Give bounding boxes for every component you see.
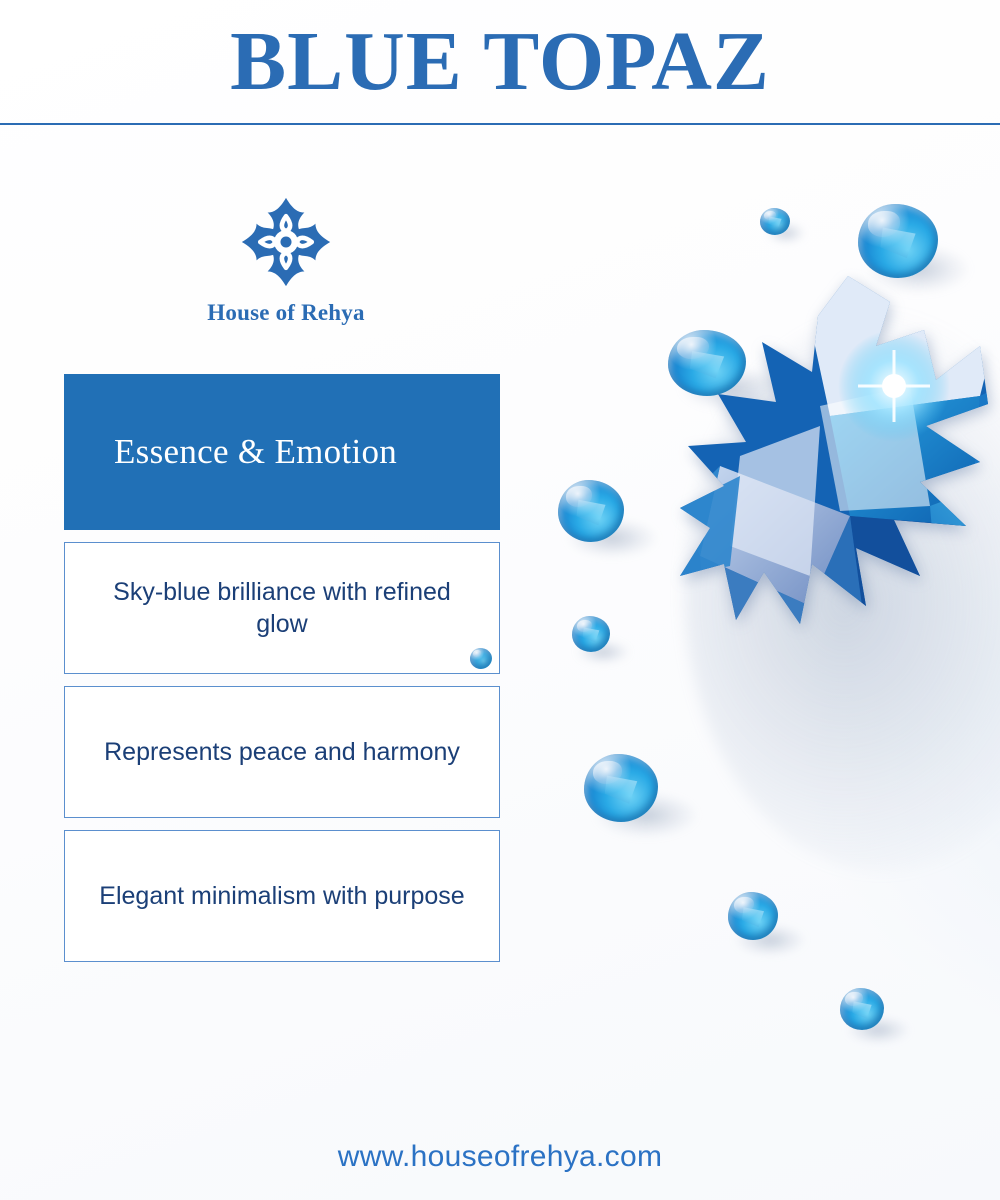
gemstone-artwork (510, 126, 1000, 1086)
feature-card-text: Represents peace and harmony (104, 736, 460, 768)
header-divider (0, 123, 1000, 125)
poster-page: BLUE TOPAZ (0, 0, 1000, 1200)
panel-heading: Essence & Emotion (64, 374, 500, 530)
gem-top-large (858, 204, 938, 278)
feature-card-text: Elegant minimalism with purpose (99, 880, 464, 912)
panel-heading-text: Essence & Emotion (114, 432, 397, 472)
gem-mid-small (572, 616, 610, 652)
page-title: BLUE TOPAZ (230, 20, 770, 104)
gem-top-small (760, 208, 790, 235)
gem-lower-left (584, 754, 658, 822)
feature-card-text: Sky-blue brilliance with refined glow (91, 576, 473, 640)
website-url[interactable]: www.houseofrehya.com (338, 1140, 663, 1173)
brand-block: House of Rehya (188, 196, 384, 326)
feature-card[interactable]: Represents peace and harmony (64, 686, 500, 818)
page-header: BLUE TOPAZ (0, 0, 1000, 124)
gem-card-overlap (470, 648, 492, 669)
brand-name: House of Rehya (188, 300, 384, 326)
large-gem-group (680, 276, 1000, 896)
large-faceted-gem-icon (680, 276, 1000, 876)
feature-card[interactable]: Elegant minimalism with purpose (64, 830, 500, 962)
gem-lower-mid (728, 892, 778, 940)
gem-lower-right (840, 988, 884, 1030)
quatrefoil-medallion-icon (240, 196, 332, 288)
feature-card[interactable]: Sky-blue brilliance with refined glow (64, 542, 500, 674)
page-footer: www.houseofrehya.com (0, 1140, 1000, 1174)
info-panel: Essence & Emotion Sky-blue brilliance wi… (64, 374, 500, 962)
gem-mid-left (558, 480, 624, 542)
